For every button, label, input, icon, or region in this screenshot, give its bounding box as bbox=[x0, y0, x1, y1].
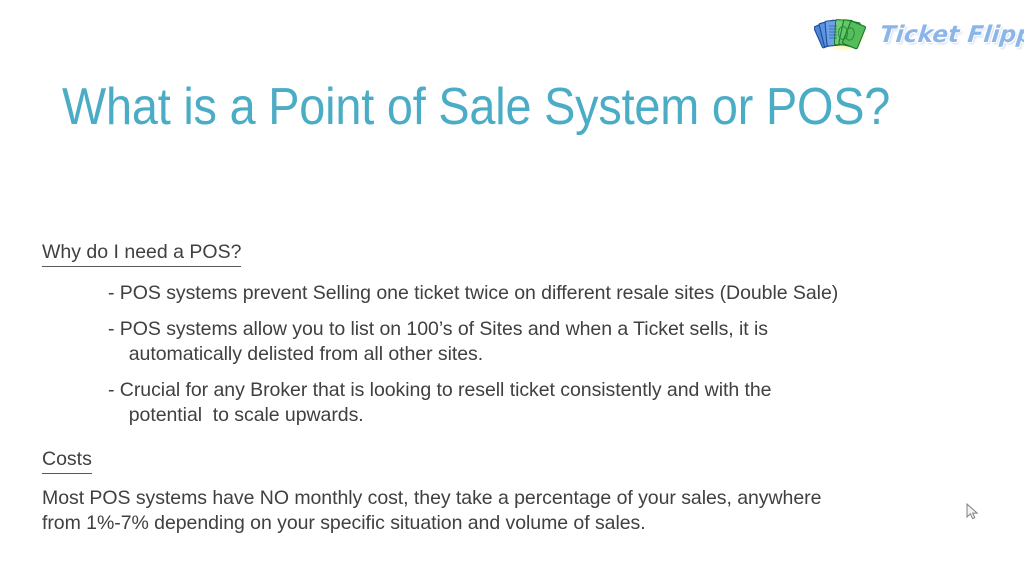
logo-wordmark: Ticket Flipping bbox=[879, 22, 1024, 48]
section-costs: Costs Most POS systems have NO monthly c… bbox=[42, 447, 994, 536]
section-why: Why do I need a POS? - POS systems preve… bbox=[42, 240, 994, 428]
slide-body: Why do I need a POS? - POS systems preve… bbox=[42, 240, 994, 536]
slide-title: What is a Point of Sale System or POS? bbox=[62, 76, 872, 138]
list-item: - POS systems allow you to list on 100’s… bbox=[42, 317, 994, 367]
tickets-and-cash-fan-icon bbox=[814, 14, 874, 56]
slide-canvas: Ticket Flipping What is a Point of Sale … bbox=[0, 0, 1024, 576]
ticket-flipping-logo: Ticket Flipping bbox=[814, 12, 1016, 58]
why-bullet-list: - POS systems prevent Selling one ticket… bbox=[42, 281, 994, 428]
list-item: - Crucial for any Broker that is looking… bbox=[42, 378, 994, 428]
heading-costs: Costs bbox=[42, 447, 92, 474]
heading-why-do-i-need-a-pos: Why do I need a POS? bbox=[42, 240, 241, 267]
costs-paragraph: Most POS systems have NO monthly cost, t… bbox=[42, 486, 994, 536]
list-item: - POS systems prevent Selling one ticket… bbox=[42, 281, 994, 306]
